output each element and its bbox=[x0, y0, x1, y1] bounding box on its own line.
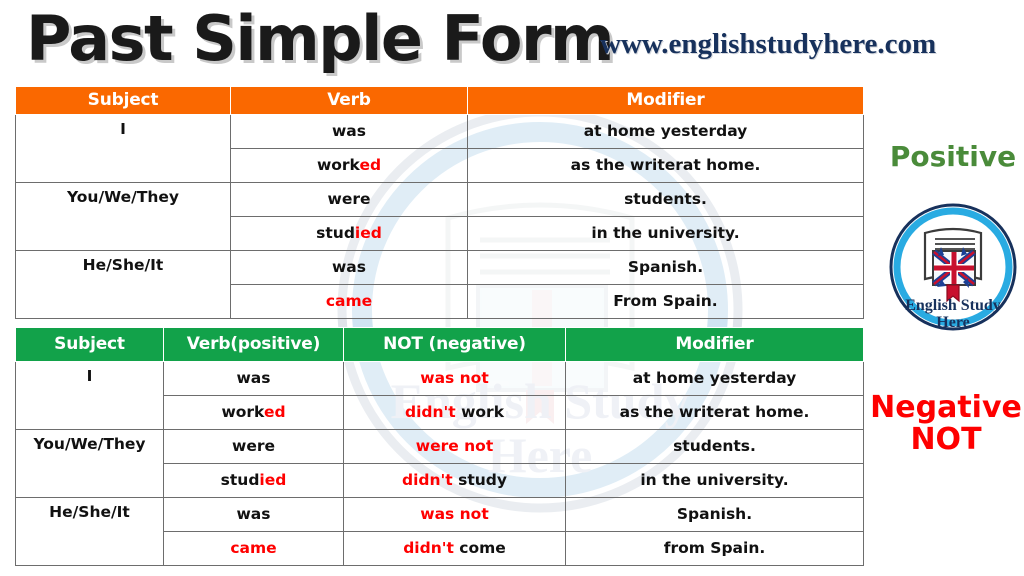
cell-verb: was bbox=[231, 115, 468, 149]
cell-modifier: at home yesterday bbox=[468, 115, 864, 149]
verb-stem: were bbox=[328, 190, 371, 208]
cell-subject: He/She/It bbox=[16, 498, 164, 566]
col-header-subject: Subject bbox=[16, 87, 231, 115]
cell-negative: didn't come bbox=[344, 532, 566, 566]
brand-logo: English Study Here bbox=[889, 203, 1017, 331]
negative-aux: was not bbox=[420, 369, 489, 387]
cell-modifier: in the university. bbox=[468, 217, 864, 251]
cell-verb: were bbox=[231, 183, 468, 217]
table-row: You/We/They were students. bbox=[16, 183, 864, 217]
verb-stem: was bbox=[332, 258, 366, 276]
negative-label: Negative NOT bbox=[868, 392, 1024, 456]
cell-verb: studied bbox=[164, 464, 344, 498]
col-header-verb: Verb bbox=[231, 87, 468, 115]
cell-verb: came bbox=[164, 532, 344, 566]
table-header-row: Subject Verb(positive) NOT (negative) Mo… bbox=[16, 328, 864, 362]
positive-label: Positive bbox=[888, 140, 1018, 173]
table-row: He/She/It was Spanish. bbox=[16, 251, 864, 285]
cell-subject: You/We/They bbox=[16, 183, 231, 251]
cell-verb: were bbox=[164, 430, 344, 464]
verb-stem: stud bbox=[316, 224, 355, 242]
negative-aux: was not bbox=[420, 505, 489, 523]
col-header-modifier: Modifier bbox=[468, 87, 864, 115]
col-header-modifier: Modifier bbox=[566, 328, 864, 362]
cell-verb: was bbox=[164, 498, 344, 532]
cell-modifier: Spanish. bbox=[468, 251, 864, 285]
table-header-row: Subject Verb Modifier bbox=[16, 87, 864, 115]
cell-modifier: in the university. bbox=[566, 464, 864, 498]
cell-negative: didn't work bbox=[344, 396, 566, 430]
cell-verb: worked bbox=[164, 396, 344, 430]
cell-modifier: at home yesterday bbox=[566, 362, 864, 396]
negative-aux: didn't bbox=[402, 471, 453, 489]
verb-suffix: came bbox=[326, 292, 372, 310]
verb-suffix: ied bbox=[259, 471, 286, 489]
cell-modifier: students. bbox=[468, 183, 864, 217]
cell-subject: You/We/They bbox=[16, 430, 164, 498]
negative-verb: come bbox=[454, 539, 506, 557]
positive-table: Subject Verb Modifier I was at home yest… bbox=[15, 86, 864, 319]
verb-suffix: ed bbox=[359, 156, 381, 174]
negative-table: Subject Verb(positive) NOT (negative) Mo… bbox=[15, 327, 864, 566]
site-url: www.englishstudyhere.com bbox=[600, 28, 936, 61]
cell-verb: came bbox=[231, 285, 468, 319]
cell-negative: were not bbox=[344, 430, 566, 464]
cell-negative: was not bbox=[344, 362, 566, 396]
table-row: You/We/They were were not students. bbox=[16, 430, 864, 464]
cell-negative: didn't study bbox=[344, 464, 566, 498]
verb-stem: stud bbox=[221, 471, 260, 489]
table-row: I was was not at home yesterday bbox=[16, 362, 864, 396]
verb-stem: was bbox=[236, 505, 270, 523]
col-header-not-negative: NOT (negative) bbox=[344, 328, 566, 362]
verb-stem: work bbox=[221, 403, 264, 421]
page-title: Past Simple Form bbox=[26, 2, 613, 75]
col-header-verb-positive: Verb(positive) bbox=[164, 328, 344, 362]
negative-label-line2: NOT bbox=[868, 424, 1024, 456]
cell-verb: was bbox=[231, 251, 468, 285]
negative-verb: work bbox=[456, 403, 504, 421]
cell-negative: was not bbox=[344, 498, 566, 532]
table-row: He/She/It was was not Spanish. bbox=[16, 498, 864, 532]
verb-suffix: ed bbox=[264, 403, 286, 421]
cell-verb: studied bbox=[231, 217, 468, 251]
cell-modifier: from Spain. bbox=[566, 532, 864, 566]
cell-verb: was bbox=[164, 362, 344, 396]
page-header: Past Simple Form www.englishstudyhere.co… bbox=[0, 0, 1024, 86]
cell-modifier: students. bbox=[566, 430, 864, 464]
cell-verb: worked bbox=[231, 149, 468, 183]
negative-aux: didn't bbox=[405, 403, 456, 421]
negative-aux: were not bbox=[416, 437, 493, 455]
col-header-subject: Subject bbox=[16, 328, 164, 362]
logo-line1: English Study bbox=[905, 297, 1001, 314]
verb-stem: were bbox=[232, 437, 275, 455]
table-row: I was at home yesterday bbox=[16, 115, 864, 149]
negative-aux: didn't bbox=[403, 539, 454, 557]
cell-modifier: as the writerat home. bbox=[468, 149, 864, 183]
verb-stem: was bbox=[236, 369, 270, 387]
negative-verb: study bbox=[453, 471, 507, 489]
verb-stem: was bbox=[332, 122, 366, 140]
cell-subject: I bbox=[16, 115, 231, 183]
logo-line2: Here bbox=[936, 314, 969, 331]
cell-modifier: From Spain. bbox=[468, 285, 864, 319]
cell-subject: He/She/It bbox=[16, 251, 231, 319]
verb-stem: work bbox=[317, 156, 360, 174]
cell-subject: I bbox=[16, 362, 164, 430]
verb-suffix: came bbox=[230, 539, 276, 557]
cell-modifier: Spanish. bbox=[566, 498, 864, 532]
negative-label-line1: Negative bbox=[868, 392, 1024, 424]
verb-suffix: ied bbox=[355, 224, 382, 242]
cell-modifier: as the writerat home. bbox=[566, 396, 864, 430]
